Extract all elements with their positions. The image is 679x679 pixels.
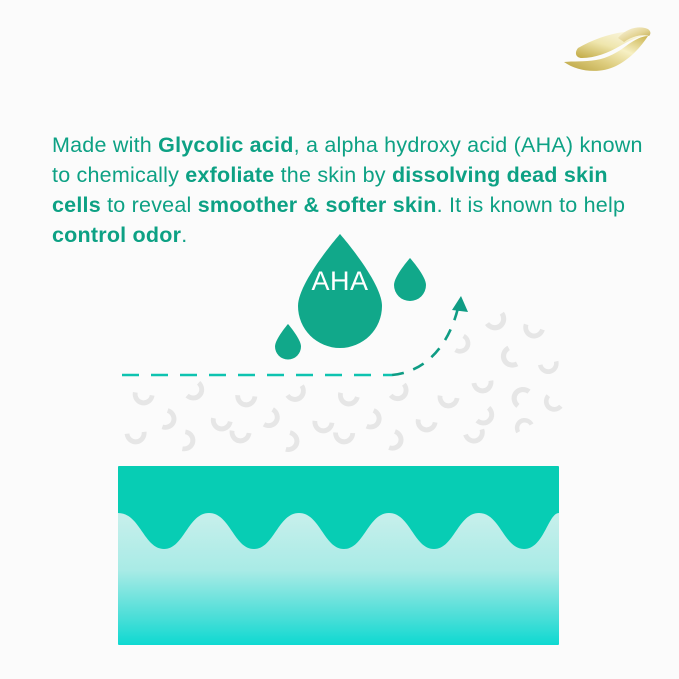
arrow-head-icon xyxy=(452,296,468,312)
exfoliation-arrow xyxy=(392,296,468,375)
droplet-right xyxy=(394,258,426,301)
aha-droplet xyxy=(298,234,382,348)
exfoliation-illustration xyxy=(0,0,679,679)
droplet-left xyxy=(275,324,301,360)
skin-cross-section xyxy=(118,466,559,645)
product-benefit-infographic: Made with Glycolic acid, a alpha hydroxy… xyxy=(0,0,679,679)
